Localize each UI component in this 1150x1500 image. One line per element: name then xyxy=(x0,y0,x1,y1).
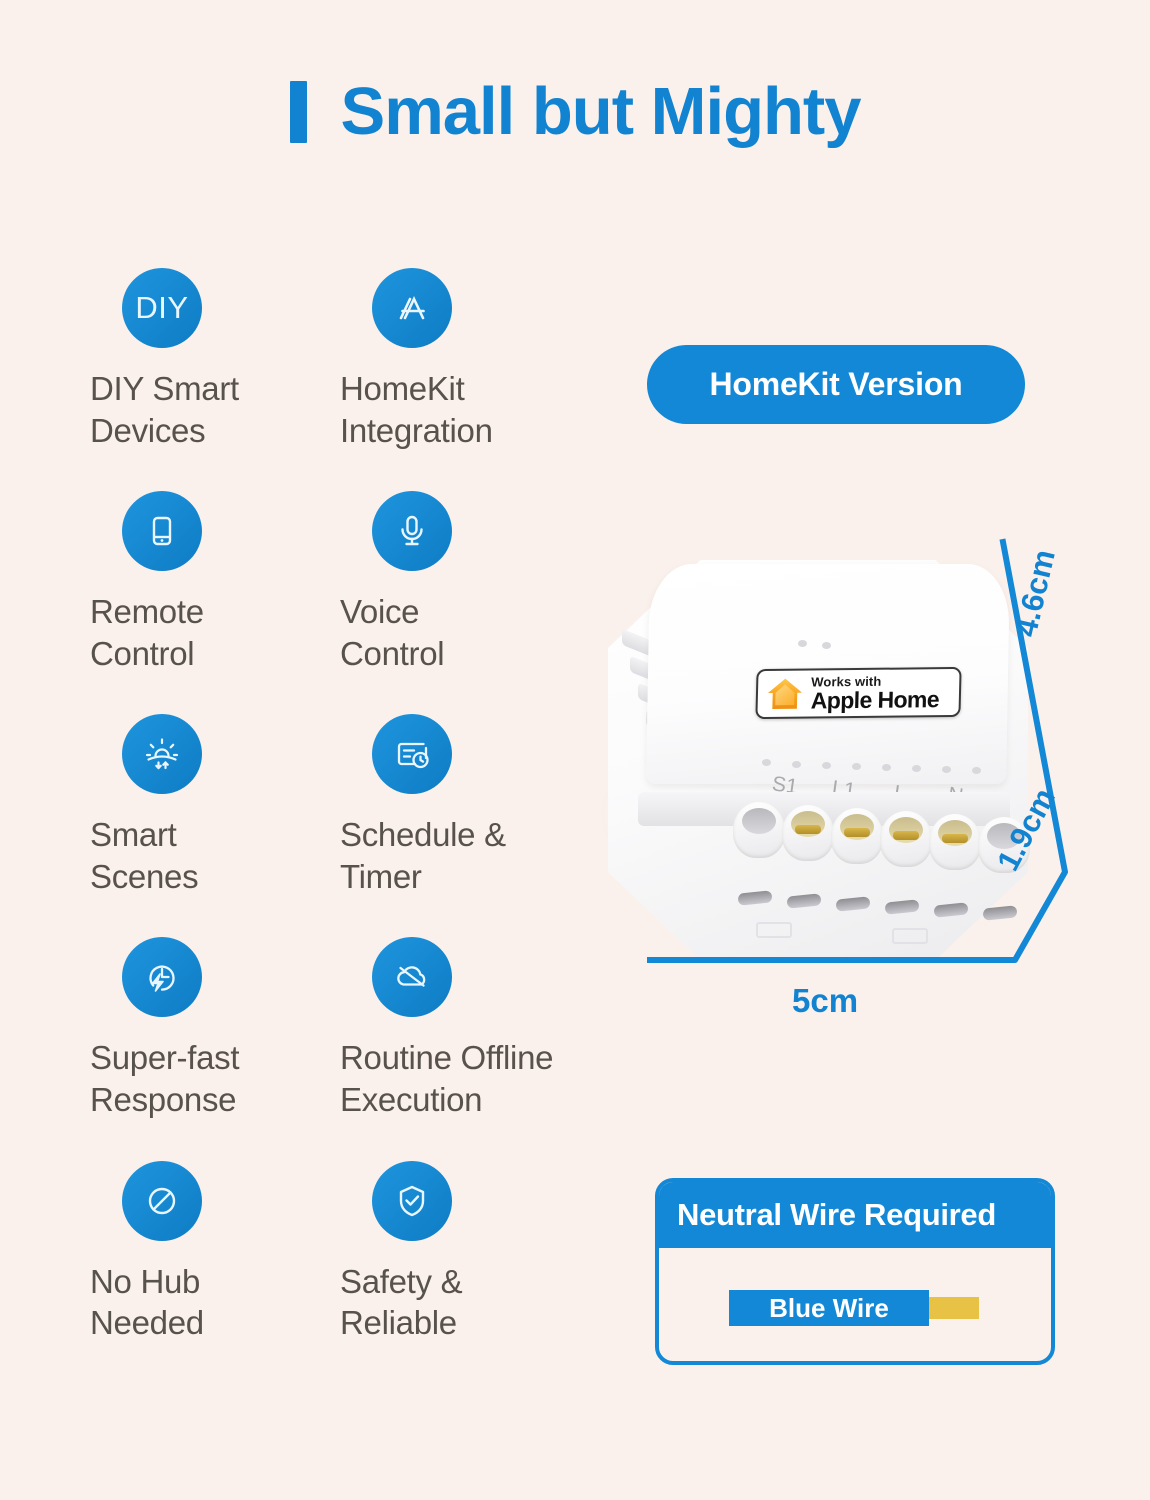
feature-label-line2: Control xyxy=(340,633,590,675)
feature-item-safety-reliable: Safety & Reliable xyxy=(340,1161,590,1344)
homekit-version-badge: HomeKit Version xyxy=(647,345,1025,424)
page-title: Small but Mighty xyxy=(0,78,1150,145)
feature-label: Super-fast Response xyxy=(90,1037,340,1120)
blue-wire-insulation: Blue Wire xyxy=(729,1290,929,1326)
dimension-lines xyxy=(560,520,1150,1040)
neutral-wire-card: Neutral Wire Required Blue Wire xyxy=(655,1178,1055,1365)
blue-wire-graphic: Blue Wire xyxy=(729,1290,979,1326)
feature-item-voice-control: Voice Control xyxy=(340,491,590,674)
feature-item-diy-smart-devices: DIY DIY Smart Devices xyxy=(90,268,340,451)
feature-label: Safety & Reliable xyxy=(340,1261,590,1344)
page-title-text: Small but Mighty xyxy=(341,78,861,145)
feature-label-line2: Scenes xyxy=(90,856,340,898)
feature-label-line1: DIY Smart xyxy=(90,368,340,410)
feature-item-homekit-integration: HomeKit Integration xyxy=(340,268,590,451)
feature-label-line1: Routine Offline xyxy=(340,1037,650,1079)
feature-item-smart-scenes: Smart Scenes xyxy=(90,714,340,897)
feature-item-schedule-timer: Schedule & Timer xyxy=(340,714,590,897)
neutral-wire-title: Neutral Wire Required xyxy=(677,1197,996,1233)
schedule-clock-icon xyxy=(372,714,452,794)
feature-item-remote-control: Remote Control xyxy=(90,491,340,674)
feature-label: Voice Control xyxy=(340,591,590,674)
app-store-icon xyxy=(372,268,452,348)
feature-label-line2: Needed xyxy=(90,1302,340,1344)
feature-label-line1: Schedule & xyxy=(340,814,590,856)
diy-text-icon: DIY xyxy=(122,268,202,348)
dimension-width-label: 5cm xyxy=(792,982,858,1020)
homekit-version-label: HomeKit Version xyxy=(709,366,962,403)
diy-icon-label: DIY xyxy=(135,290,188,326)
feature-label: Schedule & Timer xyxy=(340,814,590,897)
feature-item-no-hub-needed: No Hub Needed xyxy=(90,1161,340,1344)
feature-label: Remote Control xyxy=(90,591,340,674)
feature-label-line2: Reliable xyxy=(340,1302,590,1344)
neutral-wire-body: Blue Wire xyxy=(659,1248,1051,1365)
feature-label: Smart Scenes xyxy=(90,814,340,897)
feature-label-line1: HomeKit xyxy=(340,368,590,410)
feature-label-line2: Timer xyxy=(340,856,590,898)
feature-label-line2: Control xyxy=(90,633,340,675)
feature-label-line1: Remote xyxy=(90,591,340,633)
dimension-callouts: 4.6cm 1.9cm 5cm xyxy=(560,520,1150,1040)
feature-label-line2: Devices xyxy=(90,410,340,452)
feature-label-line1: Smart xyxy=(90,814,340,856)
feature-item-super-fast-response: Super-fast Response xyxy=(90,937,340,1120)
neutral-wire-header: Neutral Wire Required xyxy=(659,1182,1051,1248)
clock-lightning-icon xyxy=(122,937,202,1017)
cloud-offline-icon xyxy=(372,937,452,1017)
feature-label-line1: Super-fast xyxy=(90,1037,340,1079)
blue-wire-label: Blue Wire xyxy=(769,1293,889,1324)
feature-row: DIY DIY Smart Devices HomeKit Integratio… xyxy=(90,268,650,451)
feature-label-line1: No Hub xyxy=(90,1261,340,1303)
feature-label-line1: Safety & xyxy=(340,1261,590,1303)
feature-label-line2: Execution xyxy=(340,1079,650,1121)
no-entry-icon xyxy=(122,1161,202,1241)
wire-copper-tip xyxy=(929,1297,979,1319)
feature-label-line2: Response xyxy=(90,1079,340,1121)
shield-check-icon xyxy=(372,1161,452,1241)
feature-label-line2: Integration xyxy=(340,410,590,452)
microphone-icon xyxy=(372,491,452,571)
sunrise-brightness-icon xyxy=(122,714,202,794)
feature-label: HomeKit Integration xyxy=(340,368,590,451)
feature-label-line1: Voice xyxy=(340,591,590,633)
smartphone-icon xyxy=(122,491,202,571)
feature-row: No Hub Needed Safety & Reliable xyxy=(90,1161,650,1344)
feature-label: Routine Offline Execution xyxy=(340,1037,650,1120)
feature-label: No Hub Needed xyxy=(90,1261,340,1344)
feature-label: DIY Smart Devices xyxy=(90,368,340,451)
title-bar-icon xyxy=(290,81,307,143)
